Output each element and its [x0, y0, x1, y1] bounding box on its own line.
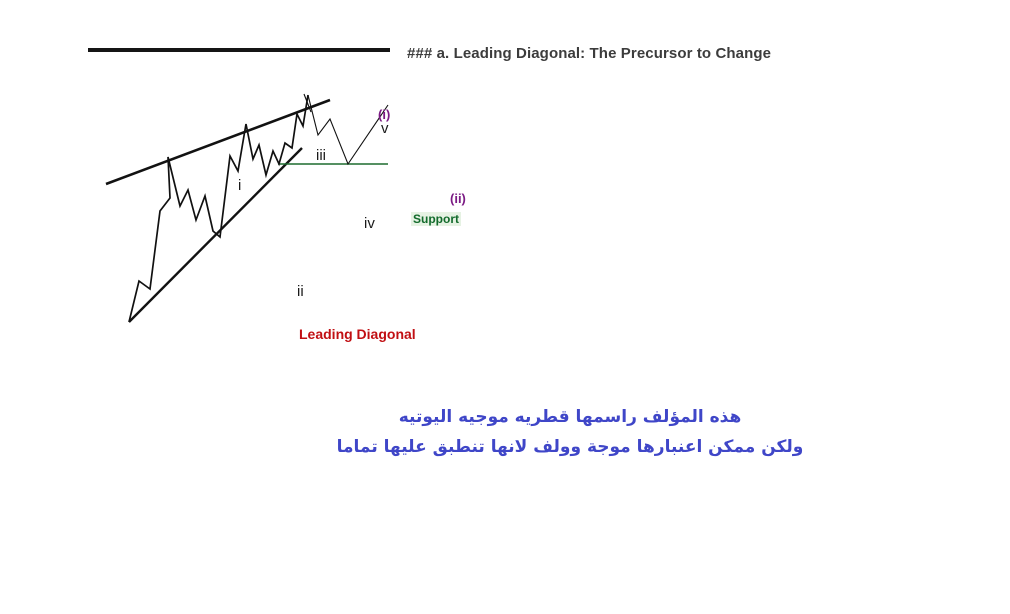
impulse-wave-path [129, 95, 308, 322]
annotation-note: هذه المؤلف راسمها قطريه موجيه اليوتيه ول… [330, 402, 810, 462]
diagram-canvas [80, 40, 410, 340]
degree-label-two: (ii) [450, 191, 466, 206]
page-title: ### a. Leading Diagonal: The Precursor t… [407, 45, 771, 62]
wave-label-iii: iii [316, 147, 326, 164]
wave-label-iv: iv [364, 215, 375, 232]
leading-diagonal-figure: i ii iii iv v (i) (ii) Support Leading D… [80, 40, 410, 340]
wave-label-ii: ii [297, 283, 304, 300]
figure-caption: Leading Diagonal [299, 326, 416, 342]
lower-trendline [129, 148, 302, 322]
note-line-1: هذه المؤلف راسمها قطريه موجيه اليوتيه [330, 402, 810, 432]
support-label: Support [411, 212, 461, 226]
wave-label-v: v [381, 120, 389, 137]
wave-label-i: i [238, 177, 241, 194]
degree-label-one: (i) [378, 107, 390, 122]
note-line-2: ولكن ممكن اعنبارها موجة وولف لانها تنطبق… [330, 432, 810, 462]
